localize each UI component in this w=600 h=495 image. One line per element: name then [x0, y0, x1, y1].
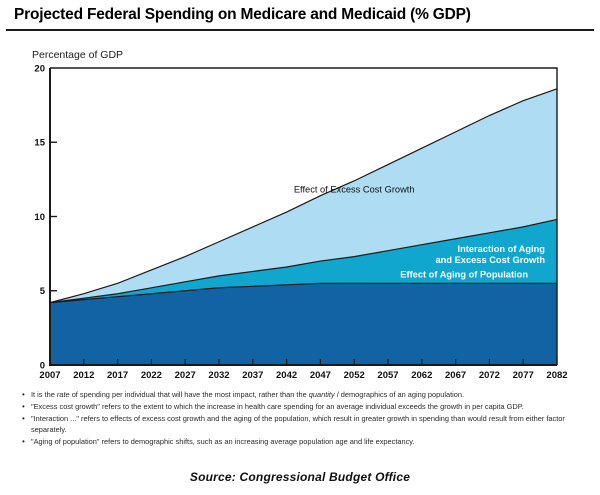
- x-tick-label: 2062: [411, 370, 432, 381]
- y-tick-label: 5: [40, 286, 46, 297]
- stacked-area-chart: 0510152020072012201720222027203220372042…: [0, 0, 600, 385]
- y-tick-label: 10: [34, 212, 45, 223]
- chart-series-group: [50, 89, 557, 365]
- band-label: and Excess Cost Growth: [435, 255, 545, 265]
- x-tick-label: 2057: [377, 370, 398, 381]
- footnote-list: It is the rate of spending per individua…: [22, 390, 588, 448]
- x-tick-label: 2027: [175, 370, 196, 381]
- x-tick-label: 2042: [276, 370, 297, 381]
- footnotes: It is the rate of spending per individua…: [22, 390, 588, 450]
- footnote-item: "Aging of population" refers to demograp…: [22, 437, 588, 448]
- x-tick-label: 2017: [107, 370, 128, 381]
- x-tick-label: 2032: [208, 370, 229, 381]
- x-tick-label: 2022: [141, 370, 162, 381]
- x-tick-label: 2072: [479, 370, 500, 381]
- x-tick-label: 2047: [310, 370, 331, 381]
- chart-plot-area: 0510152020072012201720222027203220372042…: [0, 0, 600, 385]
- source-line: Source: Congressional Budget Office: [0, 470, 600, 484]
- x-tick-label: 2052: [344, 370, 365, 381]
- band-label: Effect of Excess Cost Growth: [294, 185, 415, 195]
- footnote-item: "Interaction ..." refers to effects of e…: [22, 414, 588, 435]
- footnote-item: "Excess cost growth" refers to the exten…: [22, 402, 588, 413]
- x-tick-label: 2037: [242, 370, 263, 381]
- band-label: Effect of Aging of Population: [400, 269, 528, 279]
- x-tick-label: 2067: [445, 370, 466, 381]
- x-tick-label: 2077: [513, 370, 534, 381]
- y-tick-label: 20: [34, 63, 45, 74]
- x-tick-label: 2007: [39, 370, 60, 381]
- y-tick-label: 15: [34, 138, 45, 149]
- band-label: Interaction of Aging: [458, 244, 546, 254]
- footnote-item: It is the rate of spending per individua…: [22, 390, 588, 401]
- x-tick-label: 2012: [73, 370, 94, 381]
- x-tick-label: 2082: [546, 370, 567, 381]
